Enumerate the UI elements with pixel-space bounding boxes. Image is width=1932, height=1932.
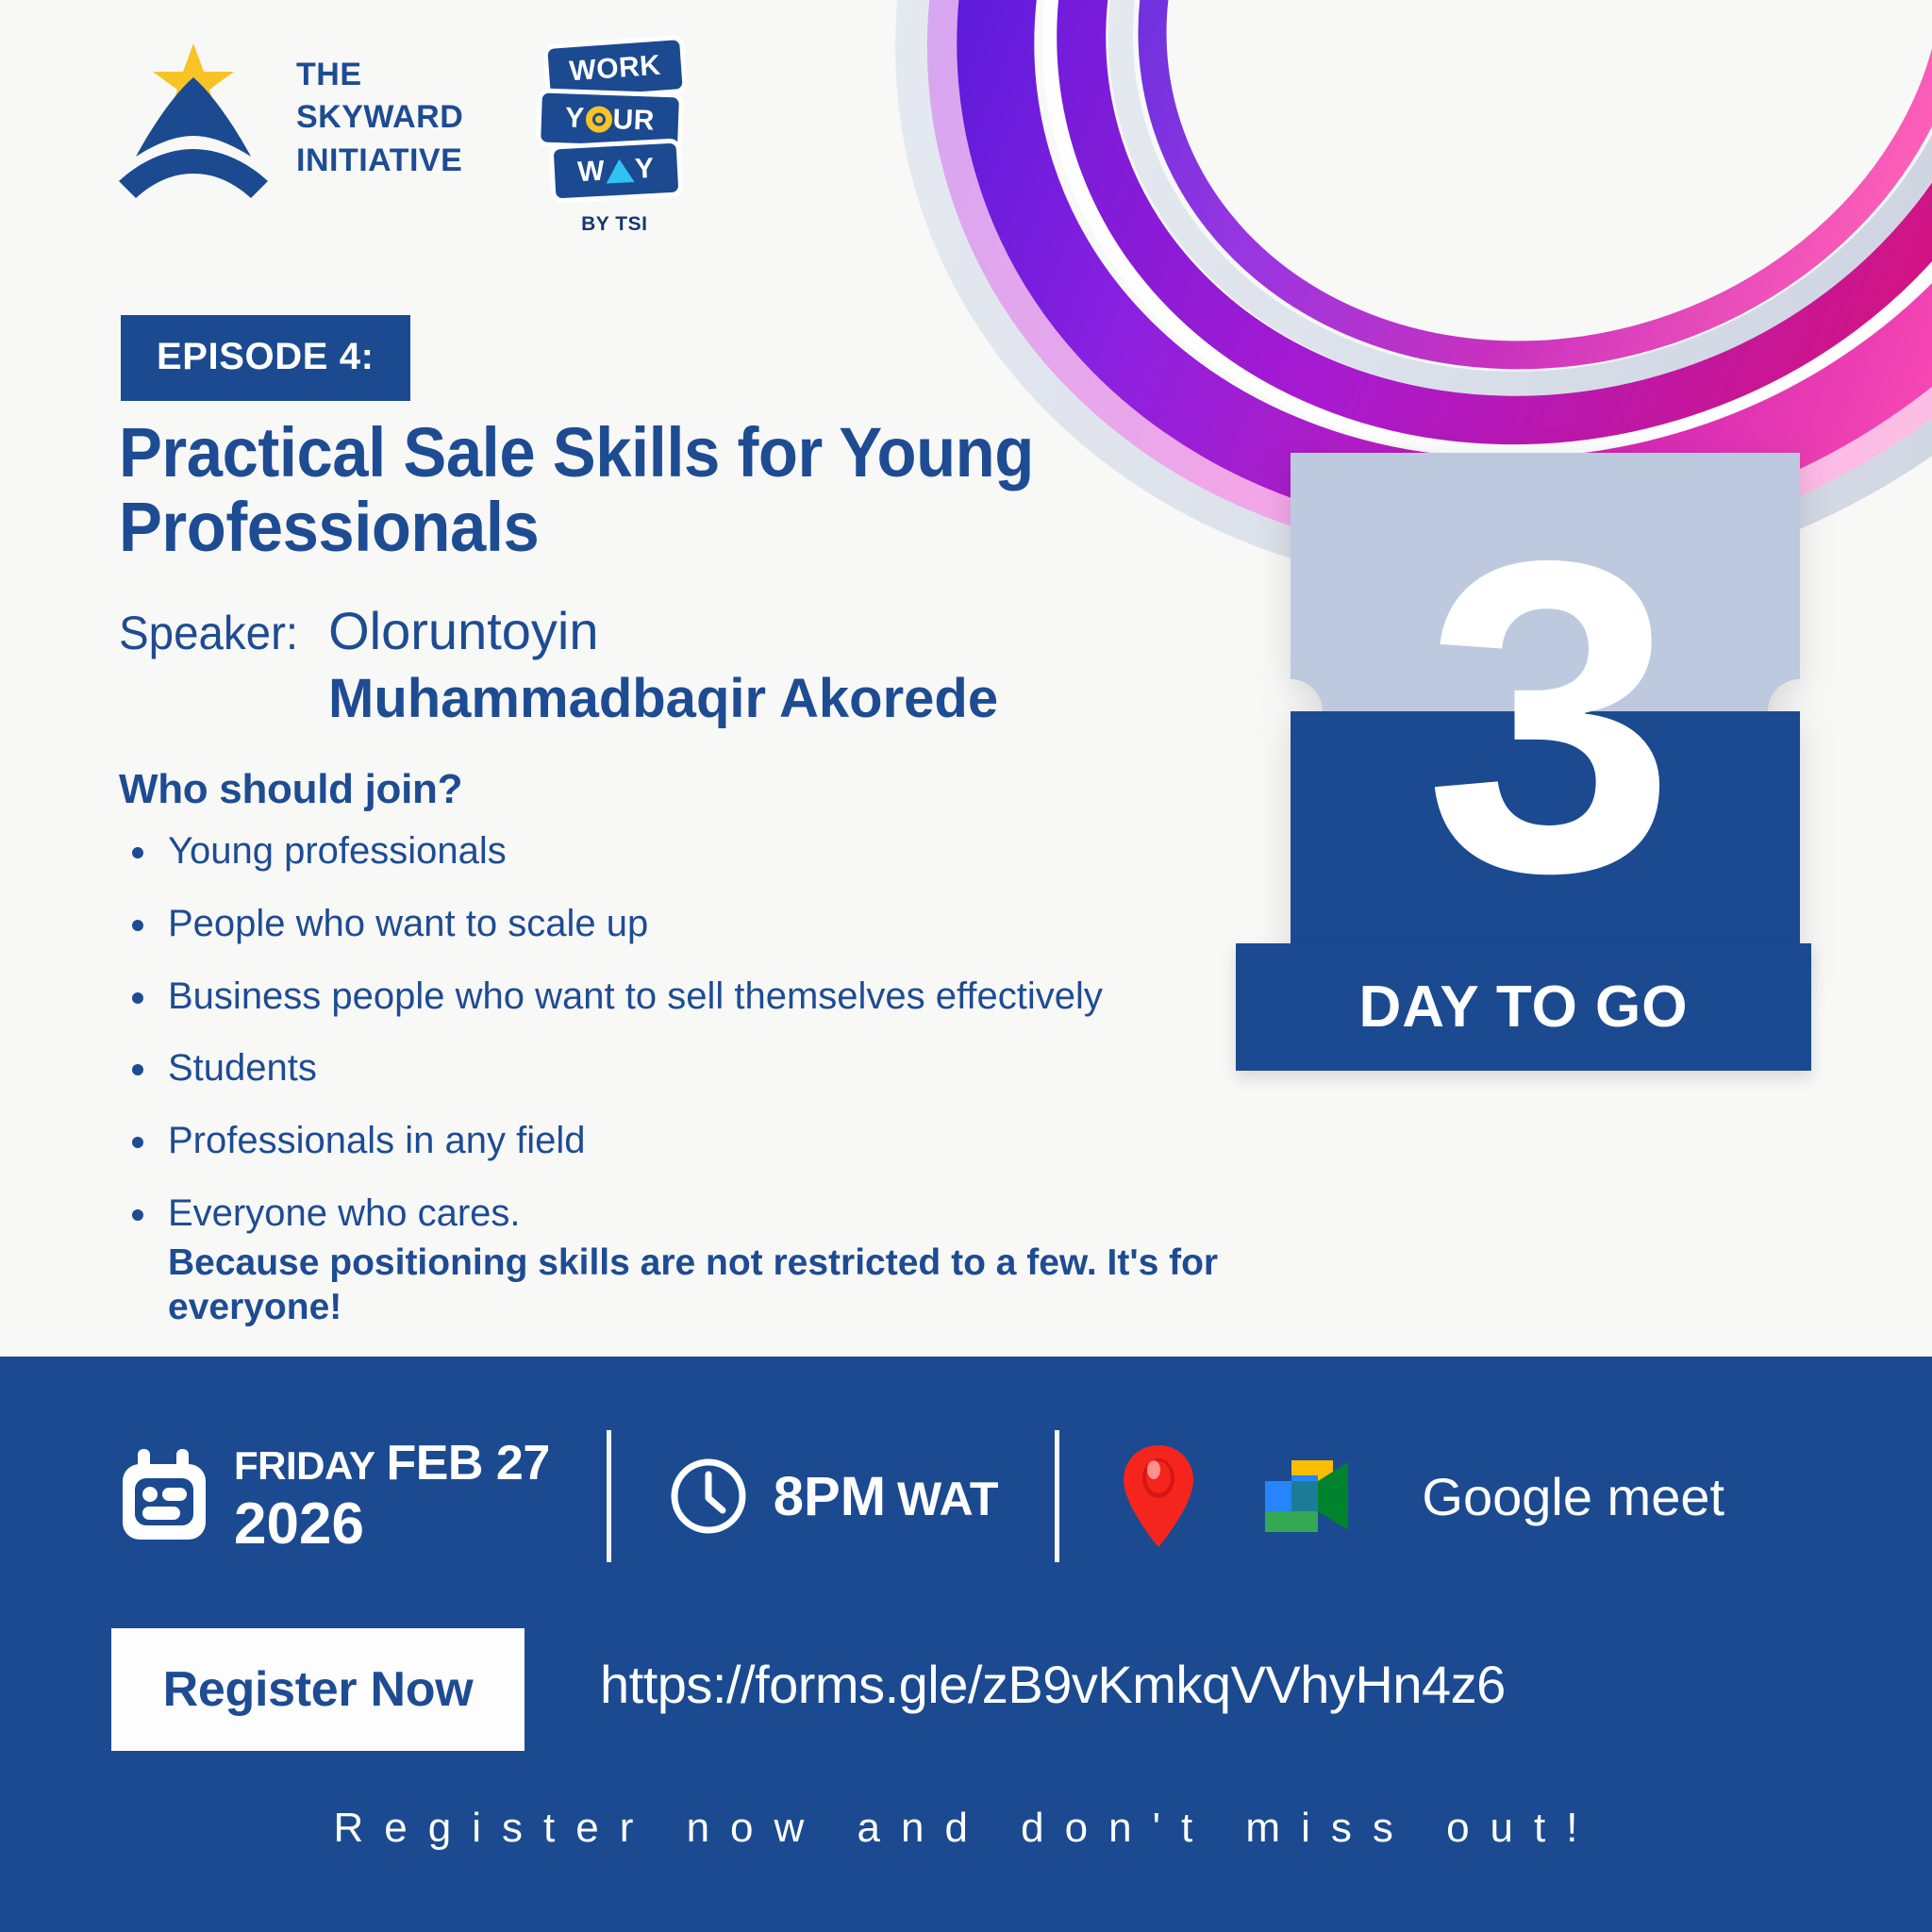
platform-block: Google meet <box>1116 1440 1724 1553</box>
list-item-text: Professionals in any field <box>168 1120 585 1161</box>
skyward-logo-mark <box>113 38 274 198</box>
list-item-text: Students <box>168 1047 317 1089</box>
date-dayofweek: FRIDAY <box>234 1446 375 1486</box>
clock-icon <box>668 1456 749 1537</box>
meta-divider <box>1055 1430 1059 1562</box>
google-meet-icon <box>1259 1453 1363 1540</box>
header-logos: THE SKYWARD INITIATIVE WORK Y UR <box>113 38 699 236</box>
bullet-dot-icon <box>132 1209 143 1221</box>
speaker-block: Speaker: Oloruntoyin Muhammadbaqir Akore… <box>119 600 1232 730</box>
badge-your-y: Y <box>565 104 586 133</box>
countdown-banner: DAY TO GO <box>1236 943 1811 1071</box>
bullet-dot-icon <box>132 920 143 931</box>
list-item-emphasis: Because positioning skills are not restr… <box>168 1241 1245 1330</box>
list-item: People who want to scale up <box>132 901 1245 947</box>
badge-row-way: W Y <box>549 138 684 203</box>
list-item: Everyone who cares. Because positioning … <box>132 1191 1245 1330</box>
date-block: FRIDAY FEB 27 2026 <box>119 1439 550 1554</box>
event-flyer: THE SKYWARD INITIATIVE WORK Y UR <box>0 0 1932 1932</box>
bullet-dot-icon <box>132 1064 143 1075</box>
countdown-widget: 3 DAY TO GO <box>1236 453 1811 1094</box>
event-meta-row: FRIDAY FEB 27 2026 8PM WAT <box>119 1430 1724 1562</box>
meta-divider <box>607 1430 611 1562</box>
org-name-line-2: SKYWARD <box>296 97 463 139</box>
list-item: Business people who want to sell themsel… <box>132 974 1245 1020</box>
audience-heading: Who should join? <box>119 766 462 813</box>
list-item: Students <box>132 1045 1245 1091</box>
time-zone: WAT <box>897 1472 998 1526</box>
episode-badge: EPISODE 4: <box>121 315 410 401</box>
bullet-dot-icon <box>132 847 143 858</box>
speaker-last-name: Muhammadbaqir Akorede <box>328 667 1232 730</box>
calendar-icon <box>119 1447 209 1545</box>
badge-your-ur: UR <box>612 106 655 136</box>
footer-bar: FRIDAY FEB 27 2026 8PM WAT <box>0 1357 1932 1932</box>
countdown-number: 3 <box>1286 453 1806 981</box>
date-year: 2026 <box>234 1495 550 1554</box>
badge-byline: BY TSI <box>529 213 699 236</box>
countdown-label: DAY TO GO <box>1359 974 1689 1041</box>
skyward-initiative-logo: THE SKYWARD INITIATIVE <box>113 38 463 198</box>
registration-url[interactable]: https://forms.gle/zB9vKmkqVVhyHn4z6 <box>600 1654 1506 1715</box>
work-your-way-badge: WORK Y UR W Y BY TSI <box>529 38 699 236</box>
list-item-text: Everyone who cares. <box>168 1192 521 1234</box>
footer-tagline: Register now and don't miss out! <box>0 1805 1932 1852</box>
register-button[interactable]: Register Now <box>111 1628 525 1751</box>
list-item-text: People who want to scale up <box>168 903 648 944</box>
badge-way-y: Y <box>635 155 656 184</box>
register-button-label: Register Now <box>163 1661 474 1718</box>
list-item: Professionals in any field <box>132 1118 1245 1164</box>
list-item: Young professionals <box>132 828 1245 874</box>
badge-way-w: W <box>577 158 606 187</box>
list-item-text: Business people who want to sell themsel… <box>168 975 1103 1017</box>
date-month-day: FEB 27 <box>386 1439 549 1488</box>
org-name-line-1: THE <box>296 55 463 96</box>
speaker-label: Speaker: <box>119 606 298 660</box>
bullet-dot-icon <box>132 992 143 1004</box>
platform-name: Google meet <box>1422 1466 1724 1527</box>
location-pin-icon <box>1116 1440 1201 1553</box>
org-name-line-3: INITIATIVE <box>296 141 463 182</box>
triangle-icon <box>606 158 635 184</box>
page-title: Practical Sale Skills for Young Professi… <box>119 415 1102 564</box>
time-value: 8PM <box>774 1465 886 1528</box>
skyward-initiative-wordmark: THE SKYWARD INITIATIVE <box>296 55 463 182</box>
time-block: 8PM WAT <box>668 1456 999 1537</box>
bullet-dot-icon <box>132 1137 143 1148</box>
list-item-text: Young professionals <box>168 830 507 872</box>
speaker-first-name: Oloruntoyin <box>328 600 598 661</box>
audience-list: Young professionals People who want to s… <box>132 828 1245 1357</box>
badge-work-label: WORK <box>569 52 662 87</box>
target-icon <box>585 106 612 133</box>
